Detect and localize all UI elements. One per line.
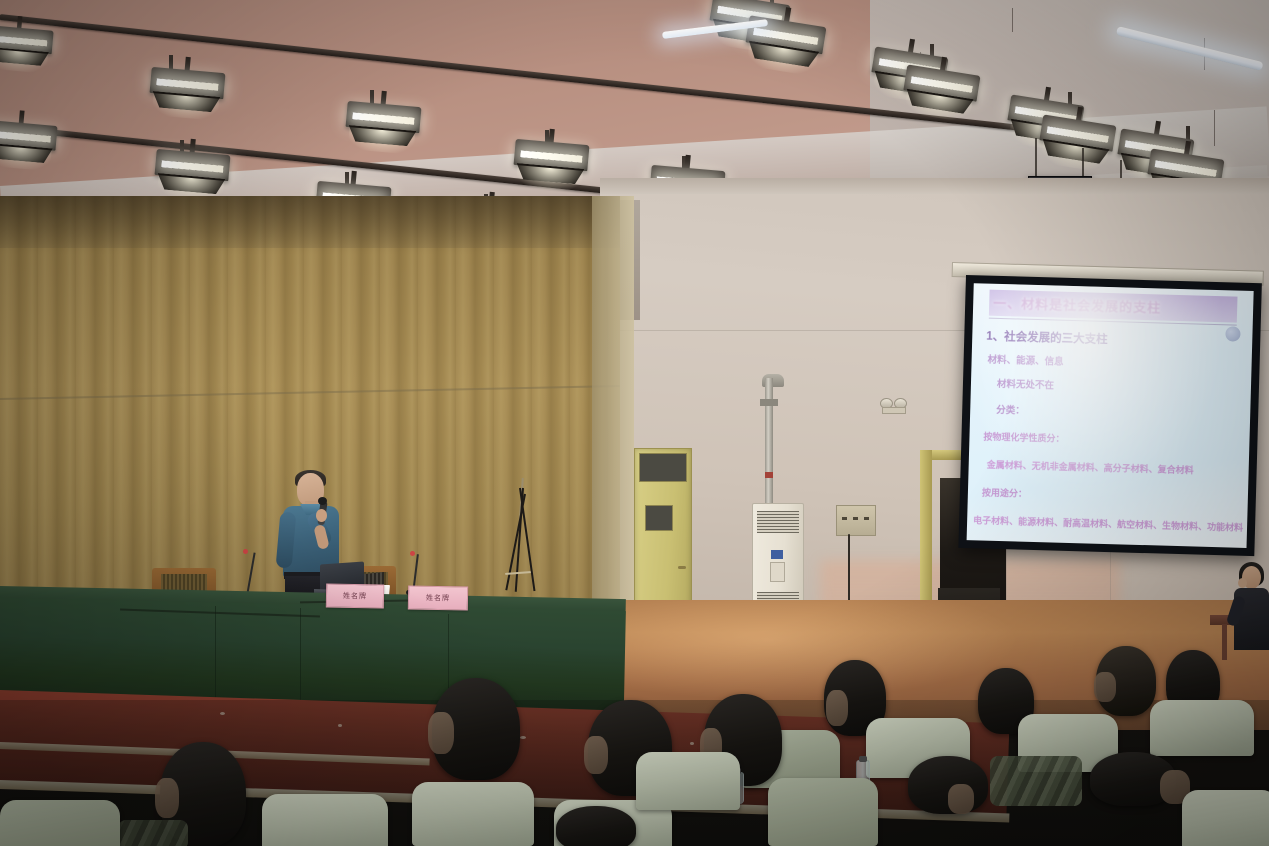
door-transom-window: [639, 453, 687, 482]
ac-pipe-clamp: [760, 399, 778, 406]
ac-pipe-marker: [765, 472, 773, 478]
stage-curtain-edge: [592, 196, 634, 616]
speaker-hand: [316, 509, 327, 522]
audience-seat: [1182, 790, 1269, 846]
microphone-tip: [410, 551, 415, 556]
attendee-hand: [1238, 578, 1247, 588]
door-vision-panel: [645, 505, 673, 531]
microphone-head: [318, 497, 327, 505]
emergency-light: [880, 398, 906, 412]
audience-face: [826, 690, 848, 726]
name-card: 姓名牌: [408, 585, 468, 610]
camouflage-jacket: [118, 820, 188, 846]
ceiling-wire: [1012, 8, 1013, 32]
stage-light: [153, 149, 230, 193]
projected-slide: 一、材料是社会发展的支柱 1、社会发展的三大支柱 材料、能源、信息 材料无处不在…: [967, 283, 1254, 548]
audience-face: [948, 784, 974, 814]
stage-light: [512, 139, 589, 183]
panel-switch[interactable]: [864, 517, 869, 520]
camouflage-jacket: [990, 756, 1082, 806]
audience-face: [428, 712, 454, 754]
stage-light: [0, 120, 58, 162]
audience-seat: [636, 752, 740, 810]
panel-switch[interactable]: [842, 517, 847, 520]
audience-seat: [1150, 700, 1254, 756]
wall-electrical-panel[interactable]: [836, 505, 876, 536]
name-card-text: 姓名牌: [409, 592, 467, 603]
name-card: 姓名牌: [326, 583, 384, 608]
audience-face: [1094, 672, 1116, 702]
emergency-light-base: [882, 407, 906, 414]
name-card-text: 姓名牌: [327, 591, 383, 602]
ac-upper-grille: [757, 511, 799, 533]
audience-face: [155, 778, 179, 818]
skirt-fold: [300, 608, 301, 704]
bottle-cap: [859, 756, 867, 762]
speaker-chain: [1035, 138, 1037, 180]
audience-head: [556, 806, 636, 846]
skirt-fold: [215, 606, 216, 702]
panel-switch[interactable]: [853, 517, 858, 520]
stage-floor-highlight: [600, 600, 1020, 700]
ac-refrigerant-pipe: [765, 378, 773, 506]
microphone-tip: [243, 549, 248, 554]
ac-control-panel[interactable]: [770, 562, 785, 582]
side-bench-leg: [1222, 624, 1227, 660]
ac-brand-badge: [771, 550, 783, 559]
stage-light: [0, 25, 54, 65]
audience-seat: [412, 782, 534, 846]
stage-light: [148, 67, 225, 111]
door-handle[interactable]: [678, 566, 686, 569]
ceiling-wire: [1214, 110, 1215, 146]
audience-seat: [0, 800, 120, 846]
projection-screen: 一、材料是社会发展的支柱 1、社会发展的三大支柱 材料、能源、信息 材料无处不在…: [958, 275, 1262, 556]
stage-curtain-shadow: [0, 196, 620, 248]
wall-upper-trim: [600, 178, 1269, 194]
audience-seat: [768, 778, 878, 846]
audience-face: [584, 736, 608, 774]
projector-hotspot: [967, 283, 1254, 548]
audience-seat: [262, 794, 388, 846]
stage-light: [344, 101, 421, 145]
auditorium-photo: 一、材料是社会发展的支柱 1、社会发展的三大支柱 材料、能源、信息 材料无处不在…: [0, 0, 1269, 846]
